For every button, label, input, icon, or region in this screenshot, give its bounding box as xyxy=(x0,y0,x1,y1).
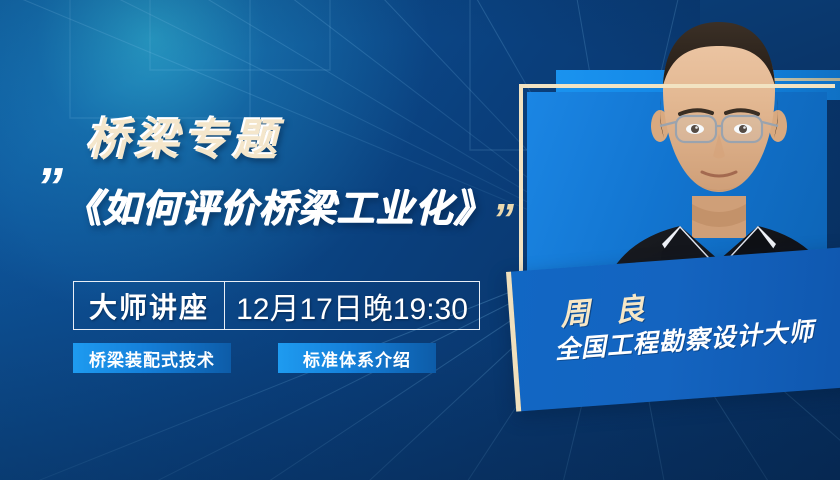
lecture-label: 大师讲座 xyxy=(74,282,225,329)
page-title: 桥梁专题 xyxy=(86,104,282,168)
poster-canvas: 周 良 全国工程勘察设计大师 桥梁专题 ” 《如何评价桥梁工业化》 ” 大师讲座… xyxy=(0,0,840,480)
headline-subject: 《如何评价桥梁工业化》 xyxy=(64,178,493,233)
tag-item[interactable]: 桥梁装配式技术 xyxy=(73,343,231,373)
lecture-info-bar: 大师讲座 12月17日晚19:30 xyxy=(73,281,480,330)
quote-open-icon: ” xyxy=(36,160,63,214)
speaker-nameplate: 周 良 全国工程勘察设计大师 xyxy=(506,247,840,412)
quote-close-icon: ” xyxy=(492,198,514,242)
lecture-datetime: 12月17日晚19:30 xyxy=(225,282,479,329)
tag-item[interactable]: 标准体系介绍 xyxy=(278,343,436,373)
headline-block: 桥梁专题 ” 《如何评价桥梁工业化》 ” xyxy=(0,0,520,260)
